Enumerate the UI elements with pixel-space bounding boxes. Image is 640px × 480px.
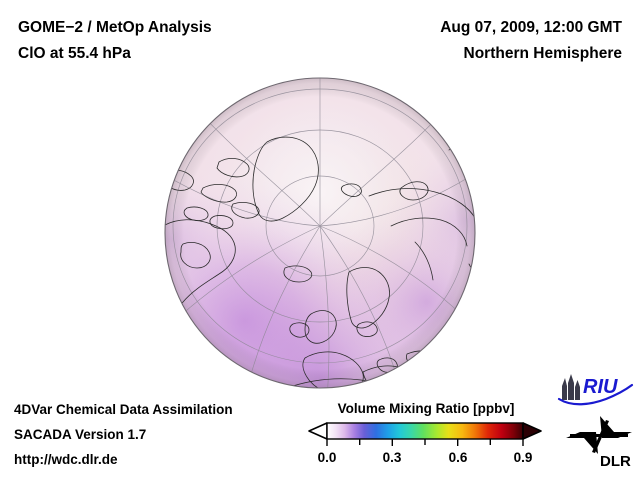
colorbar-overflow-arrow [523,423,541,439]
analysis-datetime: Aug 07, 2009, 12:00 GMT [440,19,622,37]
colorbar-tick-label-1: 0.3 [383,450,402,465]
page-subtitle-species: ClO at 55.4 hPa [18,45,131,63]
analysis-region: Northern Hemisphere [464,45,622,63]
dlr-wordmark: DLR [600,453,631,468]
colorbar-tick-label-0: 0.0 [318,450,337,465]
riu-logo: RIU [556,372,636,408]
data-centre-url[interactable]: http://wdc.dlr.de [14,452,118,467]
colorbar-ticks [327,439,523,446]
colorbar-tick-label-2: 0.6 [449,450,468,465]
riu-tower-icon [562,374,580,400]
riu-wordmark: RIU [583,376,618,398]
colorbar-tick-label-3: 0.9 [514,450,533,465]
colorbar-title: Volume Mixing Ratio [ppbv] [308,401,544,416]
colorbar-gradient [327,423,523,439]
page-title-instrument: GOME−2 / MetOp Analysis [18,19,212,37]
colorbar [306,420,546,472]
globe-map [163,76,477,390]
dlr-logo: DLR [562,412,636,468]
dlr-mark-icon [566,416,632,454]
method-label: 4DVar Chemical Data Assimilation [14,402,233,417]
version-label: SACADA Version 1.7 [14,427,146,442]
colorbar-underflow-arrow [309,423,327,439]
